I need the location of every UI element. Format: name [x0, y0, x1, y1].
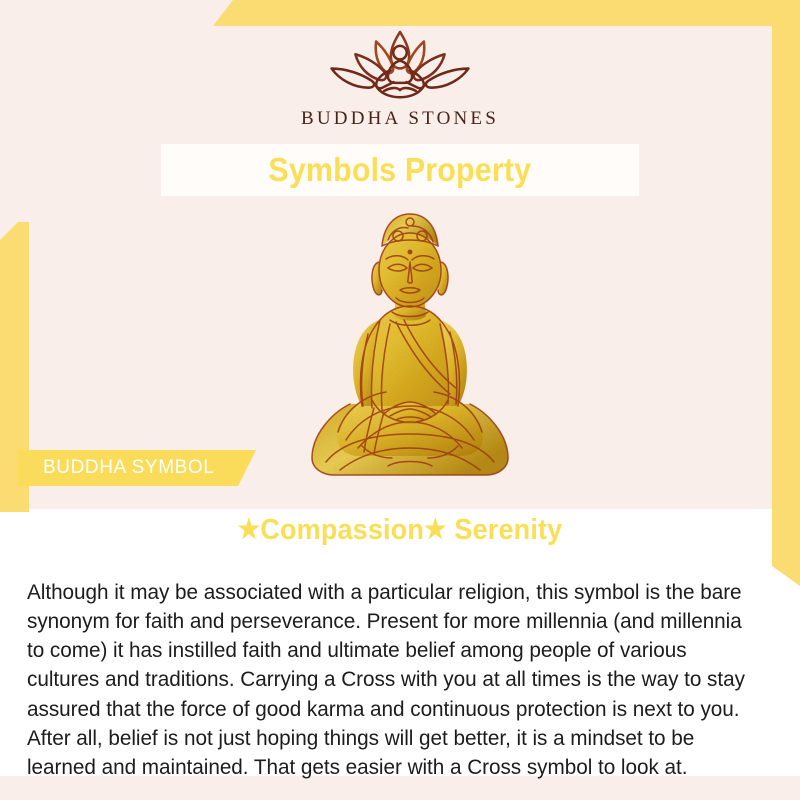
star-icon: ★ [424, 514, 447, 544]
symbol-category-label: BUDDHA SYMBOL [43, 457, 214, 479]
frame-top-bar [213, 0, 800, 26]
attributes-headline: ★Compassion★ Serenity [28, 514, 772, 547]
attribute-compassion: Compassion [260, 514, 424, 546]
star-icon: ★ [238, 514, 261, 544]
symbol-category-ribbon: BUDDHA SYMBOL [18, 450, 256, 486]
description-paragraph: Although it may be associated with a par… [27, 578, 749, 783]
brand-name: BUDDHA STONES [301, 108, 499, 130]
title-banner: Symbols Property [161, 144, 639, 196]
brand-logo: BUDDHA STONES [0, 24, 800, 140]
lotus-meditation-figure-icon [320, 24, 480, 102]
page-title: Symbols Property [269, 151, 532, 189]
hero-image [300, 200, 520, 490]
attribute-serenity: Serenity [454, 514, 562, 546]
infographic-page: BUDDHA STONES Symbols Property [0, 0, 800, 800]
